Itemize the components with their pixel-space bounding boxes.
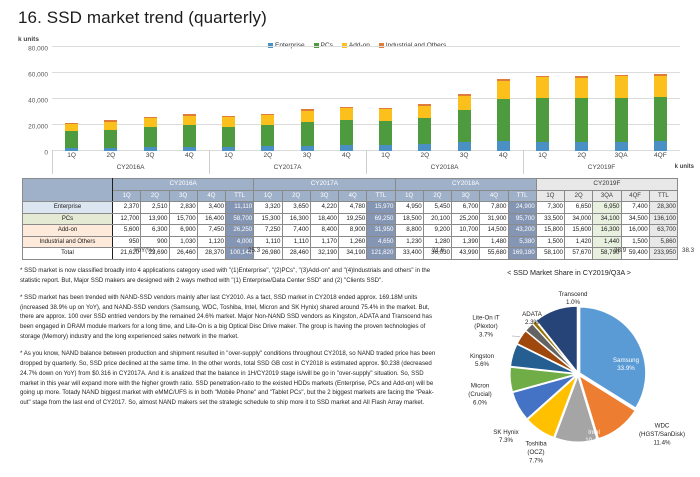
bar-slot: [131, 47, 170, 151]
table-cell: 3,320: [254, 202, 282, 214]
table-cell: 6,900: [169, 225, 197, 237]
stacked-bar: [261, 114, 274, 151]
table-cell: 24,900: [508, 202, 536, 214]
bar-slot: [484, 47, 523, 151]
table-row-header: Enterprise: [23, 202, 113, 214]
x-axis-label: 3Q: [288, 152, 327, 164]
pie-label-lite-on-it-plextor: (Plextor): [474, 323, 497, 330]
pie-chart-title: < SSD Market Share in CY2019/Q3A >: [440, 268, 698, 277]
ssd-market-share-pie-chart: < SSD Market Share in CY2019/Q3A > Samsu…: [440, 266, 698, 471]
table-row-header: PCs: [23, 213, 113, 225]
stacked-bar: [104, 120, 117, 151]
table-row-header: Add-on: [23, 225, 113, 237]
note-paragraph: * SSD market has been trended with NAND-…: [20, 293, 440, 342]
stacked-bar: [183, 114, 196, 151]
table-quarter-header: 2Q: [141, 190, 169, 202]
pie-label-samsung: 33.9%: [617, 365, 635, 372]
table-cell: 4,000: [226, 236, 254, 248]
table-year-header-row: CY2016ACY2017ACY2018ACY2019F: [23, 179, 678, 191]
bar-segment-add-on: [261, 115, 274, 125]
stacked-bar: [458, 94, 471, 151]
stacked-bar: [536, 75, 549, 151]
stacked-bar: [575, 76, 588, 151]
table-cell: 95,700: [508, 213, 536, 225]
table-cell: 1,170: [310, 236, 338, 248]
yoy-value: 38.3: [682, 247, 694, 254]
table-cell: 31,950: [367, 225, 395, 237]
table-cell: 4,780: [339, 202, 367, 214]
table-cell: 16,300: [282, 213, 310, 225]
pie-label-toshiba-ocz: (OCZ): [527, 449, 544, 456]
x-axis-label: 1Q: [523, 152, 562, 164]
table-cell: 1,500: [621, 236, 649, 248]
table-ttl-header: TTL: [508, 190, 536, 202]
y-axis-tick: 20,000: [28, 124, 48, 125]
table-year-header: CY2018A: [395, 179, 536, 191]
table-quarter-header: 4Q: [480, 190, 508, 202]
bar-segment-pcs: [301, 122, 314, 146]
table-quarter-header: 1Q: [113, 190, 141, 202]
table-cell: 7,800: [480, 202, 508, 214]
pie-label-sk-hynix: SK Hynix: [493, 429, 519, 436]
yoy-value: 21.6: [432, 247, 444, 254]
table-cell: 34,000: [565, 213, 593, 225]
bar-segment-pcs: [261, 125, 274, 146]
table-cell: 1,390: [452, 236, 480, 248]
bar-segment-add-on: [654, 76, 667, 97]
table-cell: 58,700: [226, 213, 254, 225]
pie-label-toshiba-ocz: 7.7%: [529, 457, 544, 464]
pie-label-intel: 10.4%: [585, 437, 603, 444]
pie-label-intel: Intel: [588, 429, 600, 436]
table-quarter-header: 2Q: [282, 190, 310, 202]
table-cell: 1,110: [254, 236, 282, 248]
table-cell: 4,220: [310, 202, 338, 214]
x-axis-label: 1Q: [209, 152, 248, 164]
bar-slot: [641, 47, 680, 151]
pie-label-transcend: 1.0%: [566, 299, 581, 306]
table-cell: 950: [113, 236, 141, 248]
notes-block: * SSD market is now classified broadly i…: [20, 266, 440, 415]
table-cell: 63,700: [649, 225, 677, 237]
bar-segment-enterprise: [654, 141, 667, 151]
table-cell: 6,300: [141, 225, 169, 237]
bar-segment-pcs: [458, 110, 471, 143]
table-quarter-header: 4Q: [197, 190, 225, 202]
stacked-bar: [497, 79, 510, 151]
table-quarter-header: 1Q: [536, 190, 564, 202]
chart-group-label: CY2017A: [209, 164, 366, 176]
table-cell: 5,450: [423, 202, 451, 214]
bar-segment-pcs: [615, 98, 628, 142]
stacked-bar: [222, 116, 235, 151]
table-cell: 12,700: [113, 213, 141, 225]
bar-segment-add-on: [144, 118, 157, 127]
table-ttl-header: TTL: [367, 190, 395, 202]
bar-segment-enterprise: [144, 147, 157, 151]
table-cell: 28,300: [649, 202, 677, 214]
table-cell: 6,650: [565, 202, 593, 214]
bar-slot: [209, 47, 248, 151]
x-axis-label: 4Q: [170, 152, 209, 164]
bar-segment-add-on: [340, 108, 353, 120]
table-quarter-header: 1Q: [395, 190, 423, 202]
bar-segment-add-on: [301, 111, 314, 122]
table-cell: 6,700: [452, 202, 480, 214]
bar-slot: [445, 47, 484, 151]
bar-segment-enterprise: [340, 145, 353, 151]
x-axis-label: 4Q: [327, 152, 366, 164]
x-axis-label: 2Q: [562, 152, 601, 164]
x-axis-label: 2Q: [91, 152, 130, 164]
table-ttl-header: TTL: [649, 190, 677, 202]
note-paragraph: * SSD market is now classified broadly i…: [20, 266, 440, 286]
table-cell: 4,950: [395, 202, 423, 214]
bar-slot: [248, 47, 287, 151]
table-cell: 2,510: [141, 202, 169, 214]
table-cell: 7,250: [254, 225, 282, 237]
ssd-market-trend-bar-chart: k units EnterprisePCsAdd-onIndustrial an…: [0, 36, 700, 172]
table-cell: 15,800: [536, 225, 564, 237]
table-cell: 15,300: [254, 213, 282, 225]
table-cell: 11,110: [226, 202, 254, 214]
pie-label-micron-crucial: Micron: [471, 383, 490, 390]
page-title: 16. SSD market trend (quarterly): [18, 8, 267, 28]
table-cell: 33,500: [536, 213, 564, 225]
table-cell: 16,400: [197, 213, 225, 225]
table-row-header: Industrial and Others: [23, 236, 113, 248]
bar-segment-add-on: [379, 109, 392, 120]
bar-segment-enterprise: [261, 146, 274, 151]
yoy-label: YoY(%): [134, 247, 155, 254]
yoy-value: 25.3: [248, 247, 260, 254]
table-year-header: CY2019F: [536, 179, 677, 191]
chart-group-labels: CY2016ACY2017ACY2018ACY2019F: [52, 164, 680, 176]
bar-segment-enterprise: [379, 145, 392, 151]
table-cell: 136,100: [649, 213, 677, 225]
bar-slot: [366, 47, 405, 151]
table-cell: 15,600: [565, 225, 593, 237]
bar-slot: [52, 47, 91, 151]
table-ttl-header: TTL: [226, 190, 254, 202]
stacked-bar: [301, 109, 314, 151]
bar-slot: [562, 47, 601, 151]
bar-slot: [327, 47, 366, 151]
x-axis-label: 3Q: [131, 152, 170, 164]
chart-group-label: CY2018A: [366, 164, 523, 176]
pie-chart-svg: Samsung33.9%WDC(HGST/SanDisk)11.4%Intel1…: [440, 278, 698, 470]
x-axis-label: 3Q: [445, 152, 484, 164]
table-cell: 25,200: [452, 213, 480, 225]
bar-segment-pcs: [379, 121, 392, 145]
table-cell: 7,450: [197, 225, 225, 237]
table-cell: 900: [141, 236, 169, 248]
table-cell: 31,900: [480, 213, 508, 225]
stacked-bar: [144, 117, 157, 151]
table-cell: 3,650: [282, 202, 310, 214]
bar-slot: [523, 47, 562, 151]
bar-segment-add-on: [183, 116, 196, 126]
table-quarter-header: 3QA: [593, 190, 621, 202]
x-axis-label: 1Q: [366, 152, 405, 164]
bar-segment-enterprise: [222, 147, 235, 151]
table-cell: 7,400: [621, 202, 649, 214]
bar-segment-enterprise: [104, 148, 117, 151]
chart-plot-area: 020,00040,00060,00080,000: [52, 47, 680, 151]
table-cell: 1,440: [593, 236, 621, 248]
table-quarter-header: 4QF: [621, 190, 649, 202]
bar-segment-add-on: [418, 106, 431, 118]
table-cell: 1,280: [423, 236, 451, 248]
y-axis-tick: 80,000: [28, 46, 48, 47]
table-cell: 15,700: [169, 213, 197, 225]
table-quarter-header: 3Q: [452, 190, 480, 202]
table-cell: 2,370: [113, 202, 141, 214]
table-cell: 2,830: [169, 202, 197, 214]
bar-segment-add-on: [222, 117, 235, 126]
stacked-bar: [379, 107, 392, 151]
pie-label-sk-hynix: 7.3%: [499, 437, 514, 444]
table-cell: 26,250: [226, 225, 254, 237]
table-cell: 15,970: [367, 202, 395, 214]
table-corner-cell: [23, 179, 113, 202]
bar-slot: [288, 47, 327, 151]
table-cell: 13,900: [141, 213, 169, 225]
bar-segment-enterprise: [301, 146, 314, 151]
bar-segment-enterprise: [183, 147, 196, 151]
table-cell: 1,260: [339, 236, 367, 248]
table-row: Enterprise2,3702,5102,8303,40011,1103,32…: [23, 202, 678, 214]
bar-segment-enterprise: [458, 142, 471, 151]
bar-segment-enterprise: [536, 142, 549, 151]
x-axis-label: 2Q: [405, 152, 444, 164]
y-axis-tick: 0: [44, 150, 48, 151]
table-cell: 7,400: [282, 225, 310, 237]
bar-slot: [405, 47, 444, 151]
chart-y-axis-title: k units: [18, 36, 39, 43]
table-cell: 1,030: [169, 236, 197, 248]
pie-label-micron-crucial: 6.0%: [473, 399, 488, 406]
table-cell: 5,860: [649, 236, 677, 248]
table-cell: 9,200: [423, 225, 451, 237]
bar-segment-pcs: [654, 97, 667, 142]
stacked-bar: [65, 123, 78, 151]
stacked-bar: [340, 107, 353, 151]
bar-segment-pcs: [222, 127, 235, 147]
bar-segment-enterprise: [575, 142, 588, 151]
stacked-bar: [418, 104, 431, 151]
x-axis-label: 1Q: [52, 152, 91, 164]
bar-segment-pcs: [536, 98, 549, 142]
table-quarter-header: 2Q: [565, 190, 593, 202]
bar-slot: [170, 47, 209, 151]
table-cell: 5,380: [508, 236, 536, 248]
bar-segment-pcs: [104, 130, 117, 148]
bar-segment-pcs: [183, 125, 196, 146]
bar-segment-pcs: [65, 131, 78, 148]
pie-label-lite-on-it-plextor: Lite-On iT: [472, 315, 499, 322]
pie-label-lite-on-it-plextor: 3.7%: [479, 331, 494, 338]
bar-segment-add-on: [615, 76, 628, 97]
table-cell: 18,500: [395, 213, 423, 225]
table-cell: 19,250: [339, 213, 367, 225]
pie-label-wdc-hgst-sandisk: (HGST/SanDisk): [639, 431, 685, 438]
table-cell: 20,100: [423, 213, 451, 225]
pie-label-adata: 2.3%: [525, 319, 540, 326]
table-cell: 34,100: [593, 213, 621, 225]
table-cell: 5,600: [113, 225, 141, 237]
pie-label-micron-crucial: (Crucial): [468, 391, 491, 398]
pie-label-wdc-hgst-sandisk: 11.4%: [653, 439, 671, 446]
bar-segment-enterprise: [65, 148, 78, 151]
table-cell: 1,110: [282, 236, 310, 248]
table-cell: 8,800: [395, 225, 423, 237]
table-quarter-header: 3Q: [169, 190, 197, 202]
bar-segment-add-on: [497, 81, 510, 100]
yoy-value: 38.9: [614, 247, 626, 254]
bar-slot: [91, 47, 130, 151]
bar-segment-add-on: [65, 124, 78, 131]
table-cell: 16,000: [621, 225, 649, 237]
chart-group-label: CY2016A: [52, 164, 209, 176]
table-quarter-header: 3Q: [310, 190, 338, 202]
pie-label-adata: ADATA: [522, 311, 543, 318]
bar-segment-pcs: [144, 127, 157, 147]
bar-segment-add-on: [575, 78, 588, 98]
table-cell: 1,120: [197, 236, 225, 248]
table-quarter-header: 1Q: [254, 190, 282, 202]
pie-label-kingston: 5.6%: [475, 361, 490, 368]
table-cell: 1,500: [536, 236, 564, 248]
table-head: CY2016ACY2017ACY2018ACY2019F 1Q2Q3Q4QTTL…: [23, 179, 678, 202]
table-cell: 7,300: [536, 202, 564, 214]
table-cell: 6,950: [593, 202, 621, 214]
table-cell: 1,480: [480, 236, 508, 248]
stacked-bar: [654, 74, 667, 151]
table-cell: 14,500: [480, 225, 508, 237]
table-cell: 16,300: [593, 225, 621, 237]
table-row: Add-on5,6006,3006,9007,45026,2507,2507,4…: [23, 225, 678, 237]
x-axis-label: 4QF: [641, 152, 680, 164]
pie-label-toshiba-ocz: Toshiba: [525, 441, 547, 448]
chart-group-label: CY2019F: [523, 164, 680, 176]
table-cell: 8,900: [339, 225, 367, 237]
x-axis-label: 2Q: [248, 152, 287, 164]
yoy-row: YoY(%) 25.321.638.938.3: [22, 247, 678, 259]
bar-segment-add-on: [536, 77, 549, 98]
note-paragraph: * As you know, NAND balance between prod…: [20, 349, 440, 408]
table-cell: 3,400: [197, 202, 225, 214]
table-year-header: CY2016A: [113, 179, 254, 191]
bar-segment-add-on: [458, 96, 471, 110]
x-axis-label: 3QA: [602, 152, 641, 164]
bar-segment-pcs: [340, 120, 353, 145]
bar-segment-pcs: [418, 118, 431, 144]
table-row: PCs12,70013,90015,70016,40058,70015,3001…: [23, 213, 678, 225]
table-quarter-header-row: 1Q2Q3Q4QTTL1Q2Q3Q4QTTL1Q2Q3Q4QTTL1Q2Q3QA…: [23, 190, 678, 202]
bar-segment-pcs: [575, 98, 588, 142]
stacked-bar: [615, 75, 628, 151]
y-axis-tick: 60,000: [28, 72, 48, 73]
table-cell: 10,700: [452, 225, 480, 237]
x-axis-label: 4Q: [484, 152, 523, 164]
table-quarter-header: 2Q: [423, 190, 451, 202]
table-row: Industrial and Others9509001,0301,1204,0…: [23, 236, 678, 248]
table-cell: 8,400: [310, 225, 338, 237]
bar-segment-enterprise: [418, 144, 431, 151]
table-year-header: CY2017A: [254, 179, 395, 191]
bar-segment-enterprise: [497, 141, 510, 151]
pie-label-samsung: Samsung: [613, 357, 640, 364]
pie-label-transcend: Transcend: [558, 291, 588, 298]
bar-segment-pcs: [497, 99, 510, 140]
bar-slot: [602, 47, 641, 151]
bar-segment-enterprise: [615, 142, 628, 151]
table-cell: 69,250: [367, 213, 395, 225]
table-cell: 1,230: [395, 236, 423, 248]
bar-segment-add-on: [104, 122, 117, 130]
table-cell: 4,650: [367, 236, 395, 248]
pie-label-wdc-hgst-sandisk: WDC: [655, 423, 670, 430]
table-quarter-header: 4Q: [339, 190, 367, 202]
pie-label-kingston: Kingston: [470, 353, 495, 360]
y-axis-tick: 40,000: [28, 98, 48, 99]
k-units-label: k units: [675, 164, 694, 170]
table-cell: 1,420: [565, 236, 593, 248]
table-cell: 34,500: [621, 213, 649, 225]
table-cell: 43,200: [508, 225, 536, 237]
table-cell: 18,400: [310, 213, 338, 225]
chart-bars: [52, 47, 680, 151]
